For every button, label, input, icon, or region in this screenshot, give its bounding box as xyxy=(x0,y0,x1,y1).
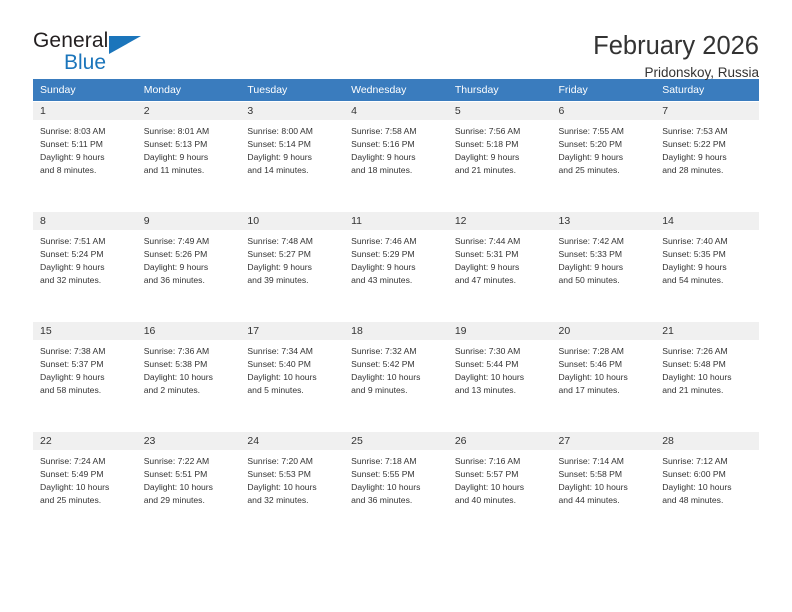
weekday-header-wednesday: Wednesday xyxy=(344,79,448,101)
day-number: 14 xyxy=(655,211,759,230)
day-sun-info: Sunrise: 7:56 AM Sunset: 5:18 PM Dayligh… xyxy=(448,120,552,178)
title-block: February 2026 Pridonskoy, Russia xyxy=(593,30,759,80)
day-number: 28 xyxy=(655,431,759,450)
day-sun-info: Sunrise: 7:32 AM Sunset: 5:42 PM Dayligh… xyxy=(344,340,448,398)
day-sun-info: Sunrise: 7:22 AM Sunset: 5:51 PM Dayligh… xyxy=(137,450,241,508)
day-number: 13 xyxy=(552,211,656,230)
day-number: 26 xyxy=(448,431,552,450)
day-number: 11 xyxy=(344,211,448,230)
weekday-header-tuesday: Tuesday xyxy=(240,79,344,101)
day-cell-content: 3Sunrise: 8:00 AM Sunset: 5:14 PM Daylig… xyxy=(240,101,344,211)
day-number: 5 xyxy=(448,101,552,120)
day-cell-content: 11Sunrise: 7:46 AM Sunset: 5:29 PM Dayli… xyxy=(344,211,448,321)
calendar-day-cell[interactable]: 12Sunrise: 7:44 AM Sunset: 5:31 PM Dayli… xyxy=(448,211,552,321)
day-cell-content: 15Sunrise: 7:38 AM Sunset: 5:37 PM Dayli… xyxy=(33,321,137,431)
calendar-day-cell[interactable]: 17Sunrise: 7:34 AM Sunset: 5:40 PM Dayli… xyxy=(240,321,344,431)
day-number: 15 xyxy=(33,321,137,340)
calendar-day-cell[interactable]: 7Sunrise: 7:53 AM Sunset: 5:22 PM Daylig… xyxy=(655,101,759,211)
calendar-day-cell[interactable]: 8Sunrise: 7:51 AM Sunset: 5:24 PM Daylig… xyxy=(33,211,137,321)
day-cell-content: 21Sunrise: 7:26 AM Sunset: 5:48 PM Dayli… xyxy=(655,321,759,431)
calendar-header-row: SundayMondayTuesdayWednesdayThursdayFrid… xyxy=(33,79,759,101)
day-number: 10 xyxy=(240,211,344,230)
day-sun-info: Sunrise: 8:03 AM Sunset: 5:11 PM Dayligh… xyxy=(33,120,137,178)
day-cell-content: 6Sunrise: 7:55 AM Sunset: 5:20 PM Daylig… xyxy=(552,101,656,211)
calendar-body: 1Sunrise: 8:03 AM Sunset: 5:11 PM Daylig… xyxy=(33,101,759,541)
day-number: 12 xyxy=(448,211,552,230)
day-number: 22 xyxy=(33,431,137,450)
day-cell-content: 28Sunrise: 7:12 AM Sunset: 6:00 PM Dayli… xyxy=(655,431,759,541)
day-cell-content: 8Sunrise: 7:51 AM Sunset: 5:24 PM Daylig… xyxy=(33,211,137,321)
day-sun-info: Sunrise: 7:46 AM Sunset: 5:29 PM Dayligh… xyxy=(344,230,448,288)
day-number: 18 xyxy=(344,321,448,340)
day-number: 7 xyxy=(655,101,759,120)
weekday-header-thursday: Thursday xyxy=(448,79,552,101)
calendar-day-cell[interactable]: 21Sunrise: 7:26 AM Sunset: 5:48 PM Dayli… xyxy=(655,321,759,431)
day-sun-info: Sunrise: 8:01 AM Sunset: 5:13 PM Dayligh… xyxy=(137,120,241,178)
calendar-day-cell[interactable]: 1Sunrise: 8:03 AM Sunset: 5:11 PM Daylig… xyxy=(33,101,137,211)
page-title: February 2026 xyxy=(593,32,759,61)
brand-flag-icon xyxy=(109,36,141,54)
calendar-day-cell[interactable]: 10Sunrise: 7:48 AM Sunset: 5:27 PM Dayli… xyxy=(240,211,344,321)
day-sun-info: Sunrise: 7:53 AM Sunset: 5:22 PM Dayligh… xyxy=(655,120,759,178)
day-cell-content: 5Sunrise: 7:56 AM Sunset: 5:18 PM Daylig… xyxy=(448,101,552,211)
day-cell-content: 14Sunrise: 7:40 AM Sunset: 5:35 PM Dayli… xyxy=(655,211,759,321)
day-cell-content: 26Sunrise: 7:16 AM Sunset: 5:57 PM Dayli… xyxy=(448,431,552,541)
calendar-day-cell[interactable]: 11Sunrise: 7:46 AM Sunset: 5:29 PM Dayli… xyxy=(344,211,448,321)
calendar-day-cell[interactable]: 9Sunrise: 7:49 AM Sunset: 5:26 PM Daylig… xyxy=(137,211,241,321)
day-cell-content: 12Sunrise: 7:44 AM Sunset: 5:31 PM Dayli… xyxy=(448,211,552,321)
calendar-day-cell[interactable]: 20Sunrise: 7:28 AM Sunset: 5:46 PM Dayli… xyxy=(552,321,656,431)
day-cell-content: 24Sunrise: 7:20 AM Sunset: 5:53 PM Dayli… xyxy=(240,431,344,541)
day-sun-info: Sunrise: 7:49 AM Sunset: 5:26 PM Dayligh… xyxy=(137,230,241,288)
weekday-header-sunday: Sunday xyxy=(33,79,137,101)
day-number: 27 xyxy=(552,431,656,450)
day-sun-info: Sunrise: 7:16 AM Sunset: 5:57 PM Dayligh… xyxy=(448,450,552,508)
day-number: 23 xyxy=(137,431,241,450)
day-sun-info: Sunrise: 7:14 AM Sunset: 5:58 PM Dayligh… xyxy=(552,450,656,508)
day-sun-info: Sunrise: 7:20 AM Sunset: 5:53 PM Dayligh… xyxy=(240,450,344,508)
day-sun-info: Sunrise: 7:34 AM Sunset: 5:40 PM Dayligh… xyxy=(240,340,344,398)
calendar-day-cell[interactable]: 6Sunrise: 7:55 AM Sunset: 5:20 PM Daylig… xyxy=(552,101,656,211)
day-cell-content: 25Sunrise: 7:18 AM Sunset: 5:55 PM Dayli… xyxy=(344,431,448,541)
day-number: 6 xyxy=(552,101,656,120)
calendar-day-cell[interactable]: 23Sunrise: 7:22 AM Sunset: 5:51 PM Dayli… xyxy=(137,431,241,541)
day-cell-content: 13Sunrise: 7:42 AM Sunset: 5:33 PM Dayli… xyxy=(552,211,656,321)
day-cell-content: 7Sunrise: 7:53 AM Sunset: 5:22 PM Daylig… xyxy=(655,101,759,211)
calendar-day-cell[interactable]: 13Sunrise: 7:42 AM Sunset: 5:33 PM Dayli… xyxy=(552,211,656,321)
calendar-day-cell[interactable]: 5Sunrise: 7:56 AM Sunset: 5:18 PM Daylig… xyxy=(448,101,552,211)
day-number: 17 xyxy=(240,321,344,340)
calendar-day-cell[interactable]: 26Sunrise: 7:16 AM Sunset: 5:57 PM Dayli… xyxy=(448,431,552,541)
day-cell-content: 23Sunrise: 7:22 AM Sunset: 5:51 PM Dayli… xyxy=(137,431,241,541)
calendar-week-row: 22Sunrise: 7:24 AM Sunset: 5:49 PM Dayli… xyxy=(33,431,759,541)
calendar-day-cell[interactable]: 4Sunrise: 7:58 AM Sunset: 5:16 PM Daylig… xyxy=(344,101,448,211)
day-sun-info: Sunrise: 8:00 AM Sunset: 5:14 PM Dayligh… xyxy=(240,120,344,178)
calendar-day-cell[interactable]: 25Sunrise: 7:18 AM Sunset: 5:55 PM Dayli… xyxy=(344,431,448,541)
day-sun-info: Sunrise: 7:12 AM Sunset: 6:00 PM Dayligh… xyxy=(655,450,759,508)
day-sun-info: Sunrise: 7:44 AM Sunset: 5:31 PM Dayligh… xyxy=(448,230,552,288)
calendar-day-cell[interactable]: 3Sunrise: 8:00 AM Sunset: 5:14 PM Daylig… xyxy=(240,101,344,211)
day-sun-info: Sunrise: 7:51 AM Sunset: 5:24 PM Dayligh… xyxy=(33,230,137,288)
day-sun-info: Sunrise: 7:48 AM Sunset: 5:27 PM Dayligh… xyxy=(240,230,344,288)
day-cell-content: 19Sunrise: 7:30 AM Sunset: 5:44 PM Dayli… xyxy=(448,321,552,431)
day-number: 20 xyxy=(552,321,656,340)
day-sun-info: Sunrise: 7:36 AM Sunset: 5:38 PM Dayligh… xyxy=(137,340,241,398)
day-sun-info: Sunrise: 7:24 AM Sunset: 5:49 PM Dayligh… xyxy=(33,450,137,508)
day-number: 21 xyxy=(655,321,759,340)
calendar-day-cell[interactable]: 15Sunrise: 7:38 AM Sunset: 5:37 PM Dayli… xyxy=(33,321,137,431)
day-sun-info: Sunrise: 7:26 AM Sunset: 5:48 PM Dayligh… xyxy=(655,340,759,398)
calendar-day-cell[interactable]: 19Sunrise: 7:30 AM Sunset: 5:44 PM Dayli… xyxy=(448,321,552,431)
day-sun-info: Sunrise: 7:18 AM Sunset: 5:55 PM Dayligh… xyxy=(344,450,448,508)
day-sun-info: Sunrise: 7:30 AM Sunset: 5:44 PM Dayligh… xyxy=(448,340,552,398)
day-cell-content: 2Sunrise: 8:01 AM Sunset: 5:13 PM Daylig… xyxy=(137,101,241,211)
day-number: 8 xyxy=(33,211,137,230)
day-cell-content: 20Sunrise: 7:28 AM Sunset: 5:46 PM Dayli… xyxy=(552,321,656,431)
day-cell-content: 17Sunrise: 7:34 AM Sunset: 5:40 PM Dayli… xyxy=(240,321,344,431)
day-cell-content: 27Sunrise: 7:14 AM Sunset: 5:58 PM Dayli… xyxy=(552,431,656,541)
day-number: 16 xyxy=(137,321,241,340)
day-number: 1 xyxy=(33,101,137,120)
day-number: 4 xyxy=(344,101,448,120)
calendar-week-row: 8Sunrise: 7:51 AM Sunset: 5:24 PM Daylig… xyxy=(33,211,759,321)
calendar-table: SundayMondayTuesdayWednesdayThursdayFrid… xyxy=(33,79,759,541)
logo-text-blue: Blue xyxy=(64,52,153,73)
day-sun-info: Sunrise: 7:38 AM Sunset: 5:37 PM Dayligh… xyxy=(33,340,137,398)
calendar-day-cell[interactable]: 2Sunrise: 8:01 AM Sunset: 5:13 PM Daylig… xyxy=(137,101,241,211)
calendar-page: General Blue February 2026 Pridonskoy, R… xyxy=(0,0,792,612)
general-blue-logo: General Blue xyxy=(33,30,153,82)
page-subtitle: Pridonskoy, Russia xyxy=(593,66,759,81)
calendar-day-cell[interactable]: 22Sunrise: 7:24 AM Sunset: 5:49 PM Dayli… xyxy=(33,431,137,541)
day-sun-info: Sunrise: 7:42 AM Sunset: 5:33 PM Dayligh… xyxy=(552,230,656,288)
calendar-week-row: 15Sunrise: 7:38 AM Sunset: 5:37 PM Dayli… xyxy=(33,321,759,431)
calendar-day-cell[interactable]: 14Sunrise: 7:40 AM Sunset: 5:35 PM Dayli… xyxy=(655,211,759,321)
day-cell-content: 10Sunrise: 7:48 AM Sunset: 5:27 PM Dayli… xyxy=(240,211,344,321)
day-sun-info: Sunrise: 7:55 AM Sunset: 5:20 PM Dayligh… xyxy=(552,120,656,178)
day-cell-content: 18Sunrise: 7:32 AM Sunset: 5:42 PM Dayli… xyxy=(344,321,448,431)
calendar-day-cell[interactable]: 16Sunrise: 7:36 AM Sunset: 5:38 PM Dayli… xyxy=(137,321,241,431)
day-number: 9 xyxy=(137,211,241,230)
calendar-day-cell[interactable]: 18Sunrise: 7:32 AM Sunset: 5:42 PM Dayli… xyxy=(344,321,448,431)
page-header: General Blue February 2026 Pridonskoy, R… xyxy=(33,0,759,70)
day-sun-info: Sunrise: 7:28 AM Sunset: 5:46 PM Dayligh… xyxy=(552,340,656,398)
day-sun-info: Sunrise: 7:40 AM Sunset: 5:35 PM Dayligh… xyxy=(655,230,759,288)
day-number: 3 xyxy=(240,101,344,120)
calendar-week-row: 1Sunrise: 8:03 AM Sunset: 5:11 PM Daylig… xyxy=(33,101,759,211)
day-number: 2 xyxy=(137,101,241,120)
day-cell-content: 22Sunrise: 7:24 AM Sunset: 5:49 PM Dayli… xyxy=(33,431,137,541)
weekday-header-saturday: Saturday xyxy=(655,79,759,101)
weekday-header-monday: Monday xyxy=(137,79,241,101)
calendar-day-cell[interactable]: 27Sunrise: 7:14 AM Sunset: 5:58 PM Dayli… xyxy=(552,431,656,541)
day-cell-content: 1Sunrise: 8:03 AM Sunset: 5:11 PM Daylig… xyxy=(33,101,137,211)
weekday-header-friday: Friday xyxy=(552,79,656,101)
day-cell-content: 9Sunrise: 7:49 AM Sunset: 5:26 PM Daylig… xyxy=(137,211,241,321)
day-sun-info: Sunrise: 7:58 AM Sunset: 5:16 PM Dayligh… xyxy=(344,120,448,178)
day-number: 19 xyxy=(448,321,552,340)
calendar-day-cell[interactable]: 24Sunrise: 7:20 AM Sunset: 5:53 PM Dayli… xyxy=(240,431,344,541)
day-number: 25 xyxy=(344,431,448,450)
day-number: 24 xyxy=(240,431,344,450)
day-cell-content: 16Sunrise: 7:36 AM Sunset: 5:38 PM Dayli… xyxy=(137,321,241,431)
calendar-day-cell[interactable]: 28Sunrise: 7:12 AM Sunset: 6:00 PM Dayli… xyxy=(655,431,759,541)
day-cell-content: 4Sunrise: 7:58 AM Sunset: 5:16 PM Daylig… xyxy=(344,101,448,211)
